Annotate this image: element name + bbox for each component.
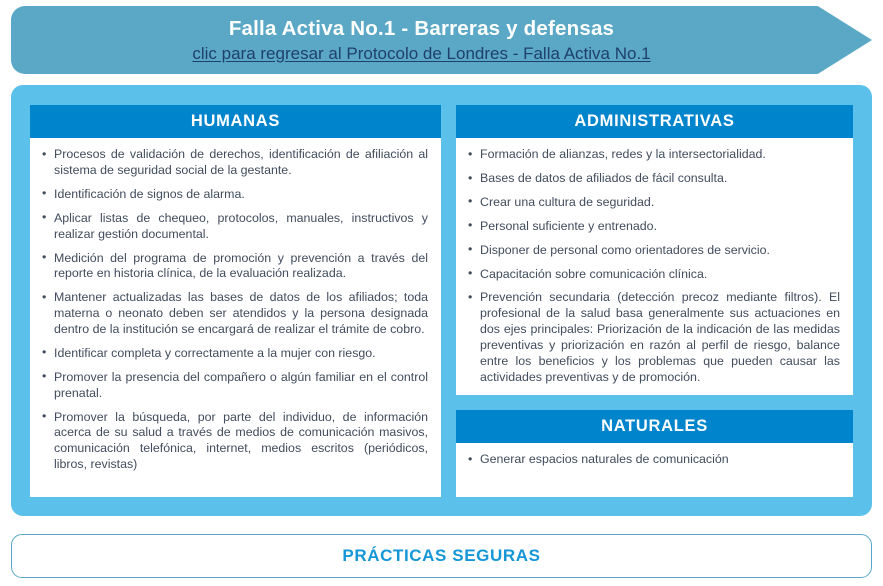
barriers-panel: HUMANAS Procesos de validación de derech… xyxy=(11,85,872,516)
list-item: Disponer de personal como orientadores d… xyxy=(467,243,840,259)
card-humanas-heading: HUMANAS xyxy=(30,105,441,138)
list-item: Generar espacios naturales de comunicaci… xyxy=(467,452,840,468)
list-item: Identificación de signos de alarma. xyxy=(41,187,428,203)
list-item: Mantener actualizadas las bases de datos… xyxy=(41,290,428,338)
list-item: Prevención secundaria (detección precoz … xyxy=(467,290,840,385)
card-administrativas-heading: ADMINISTRATIVAS xyxy=(456,105,853,138)
card-humanas: HUMANAS Procesos de validación de derech… xyxy=(30,105,441,497)
card-administrativas-body: Formación de alianzas, redes y la inters… xyxy=(456,138,853,395)
administrativas-bullet-list: Formación de alianzas, redes y la inters… xyxy=(467,147,840,386)
slide-root: Falla Activa No.1 - Barreras y defensas … xyxy=(0,0,883,586)
list-item: Medición del programa de promoción y pre… xyxy=(41,251,428,283)
list-item: Promover la presencia del compañero o al… xyxy=(41,370,428,402)
card-naturales-body: Generar espacios naturales de comunicaci… xyxy=(456,443,853,497)
list-item: Bases de datos de afiliados de fácil con… xyxy=(467,171,840,187)
card-naturales: NATURALES Generar espacios naturales de … xyxy=(456,410,853,497)
list-item: Formación de alianzas, redes y la inters… xyxy=(467,147,840,163)
list-item: Crear una cultura de seguridad. xyxy=(467,195,840,211)
page-title: Falla Activa No.1 - Barreras y defensas xyxy=(229,17,614,41)
list-item: Promover la búsqueda, por parte del indi… xyxy=(41,410,428,474)
naturales-bullet-list: Generar espacios naturales de comunicaci… xyxy=(467,452,840,468)
list-item: Identificar completa y correctamente a l… xyxy=(41,346,428,362)
list-item: Capacitación sobre comunicación clínica. xyxy=(467,267,840,283)
column-left: HUMANAS Procesos de validación de derech… xyxy=(30,105,441,497)
humanas-bullet-list: Procesos de validación de derechos, iden… xyxy=(41,147,428,473)
back-to-protocolo-londres-link[interactable]: clic para regresar al Protocolo de Londr… xyxy=(192,44,650,64)
header-banner: Falla Activa No.1 - Barreras y defensas … xyxy=(11,6,872,74)
card-administrativas: ADMINISTRATIVAS Formación de alianzas, r… xyxy=(456,105,853,395)
practicas-seguras-bar[interactable]: PRÁCTICAS SEGURAS xyxy=(11,534,872,578)
practicas-seguras-label: PRÁCTICAS SEGURAS xyxy=(342,546,540,566)
card-humanas-body: Procesos de validación de derechos, iden… xyxy=(30,138,441,497)
list-item: Personal suficiente y entrenado. xyxy=(467,219,840,235)
column-right: ADMINISTRATIVAS Formación de alianzas, r… xyxy=(456,105,853,497)
card-naturales-heading: NATURALES xyxy=(456,410,853,443)
list-item: Procesos de validación de derechos, iden… xyxy=(41,147,428,179)
list-item: Aplicar listas de chequeo, protocolos, m… xyxy=(41,211,428,243)
